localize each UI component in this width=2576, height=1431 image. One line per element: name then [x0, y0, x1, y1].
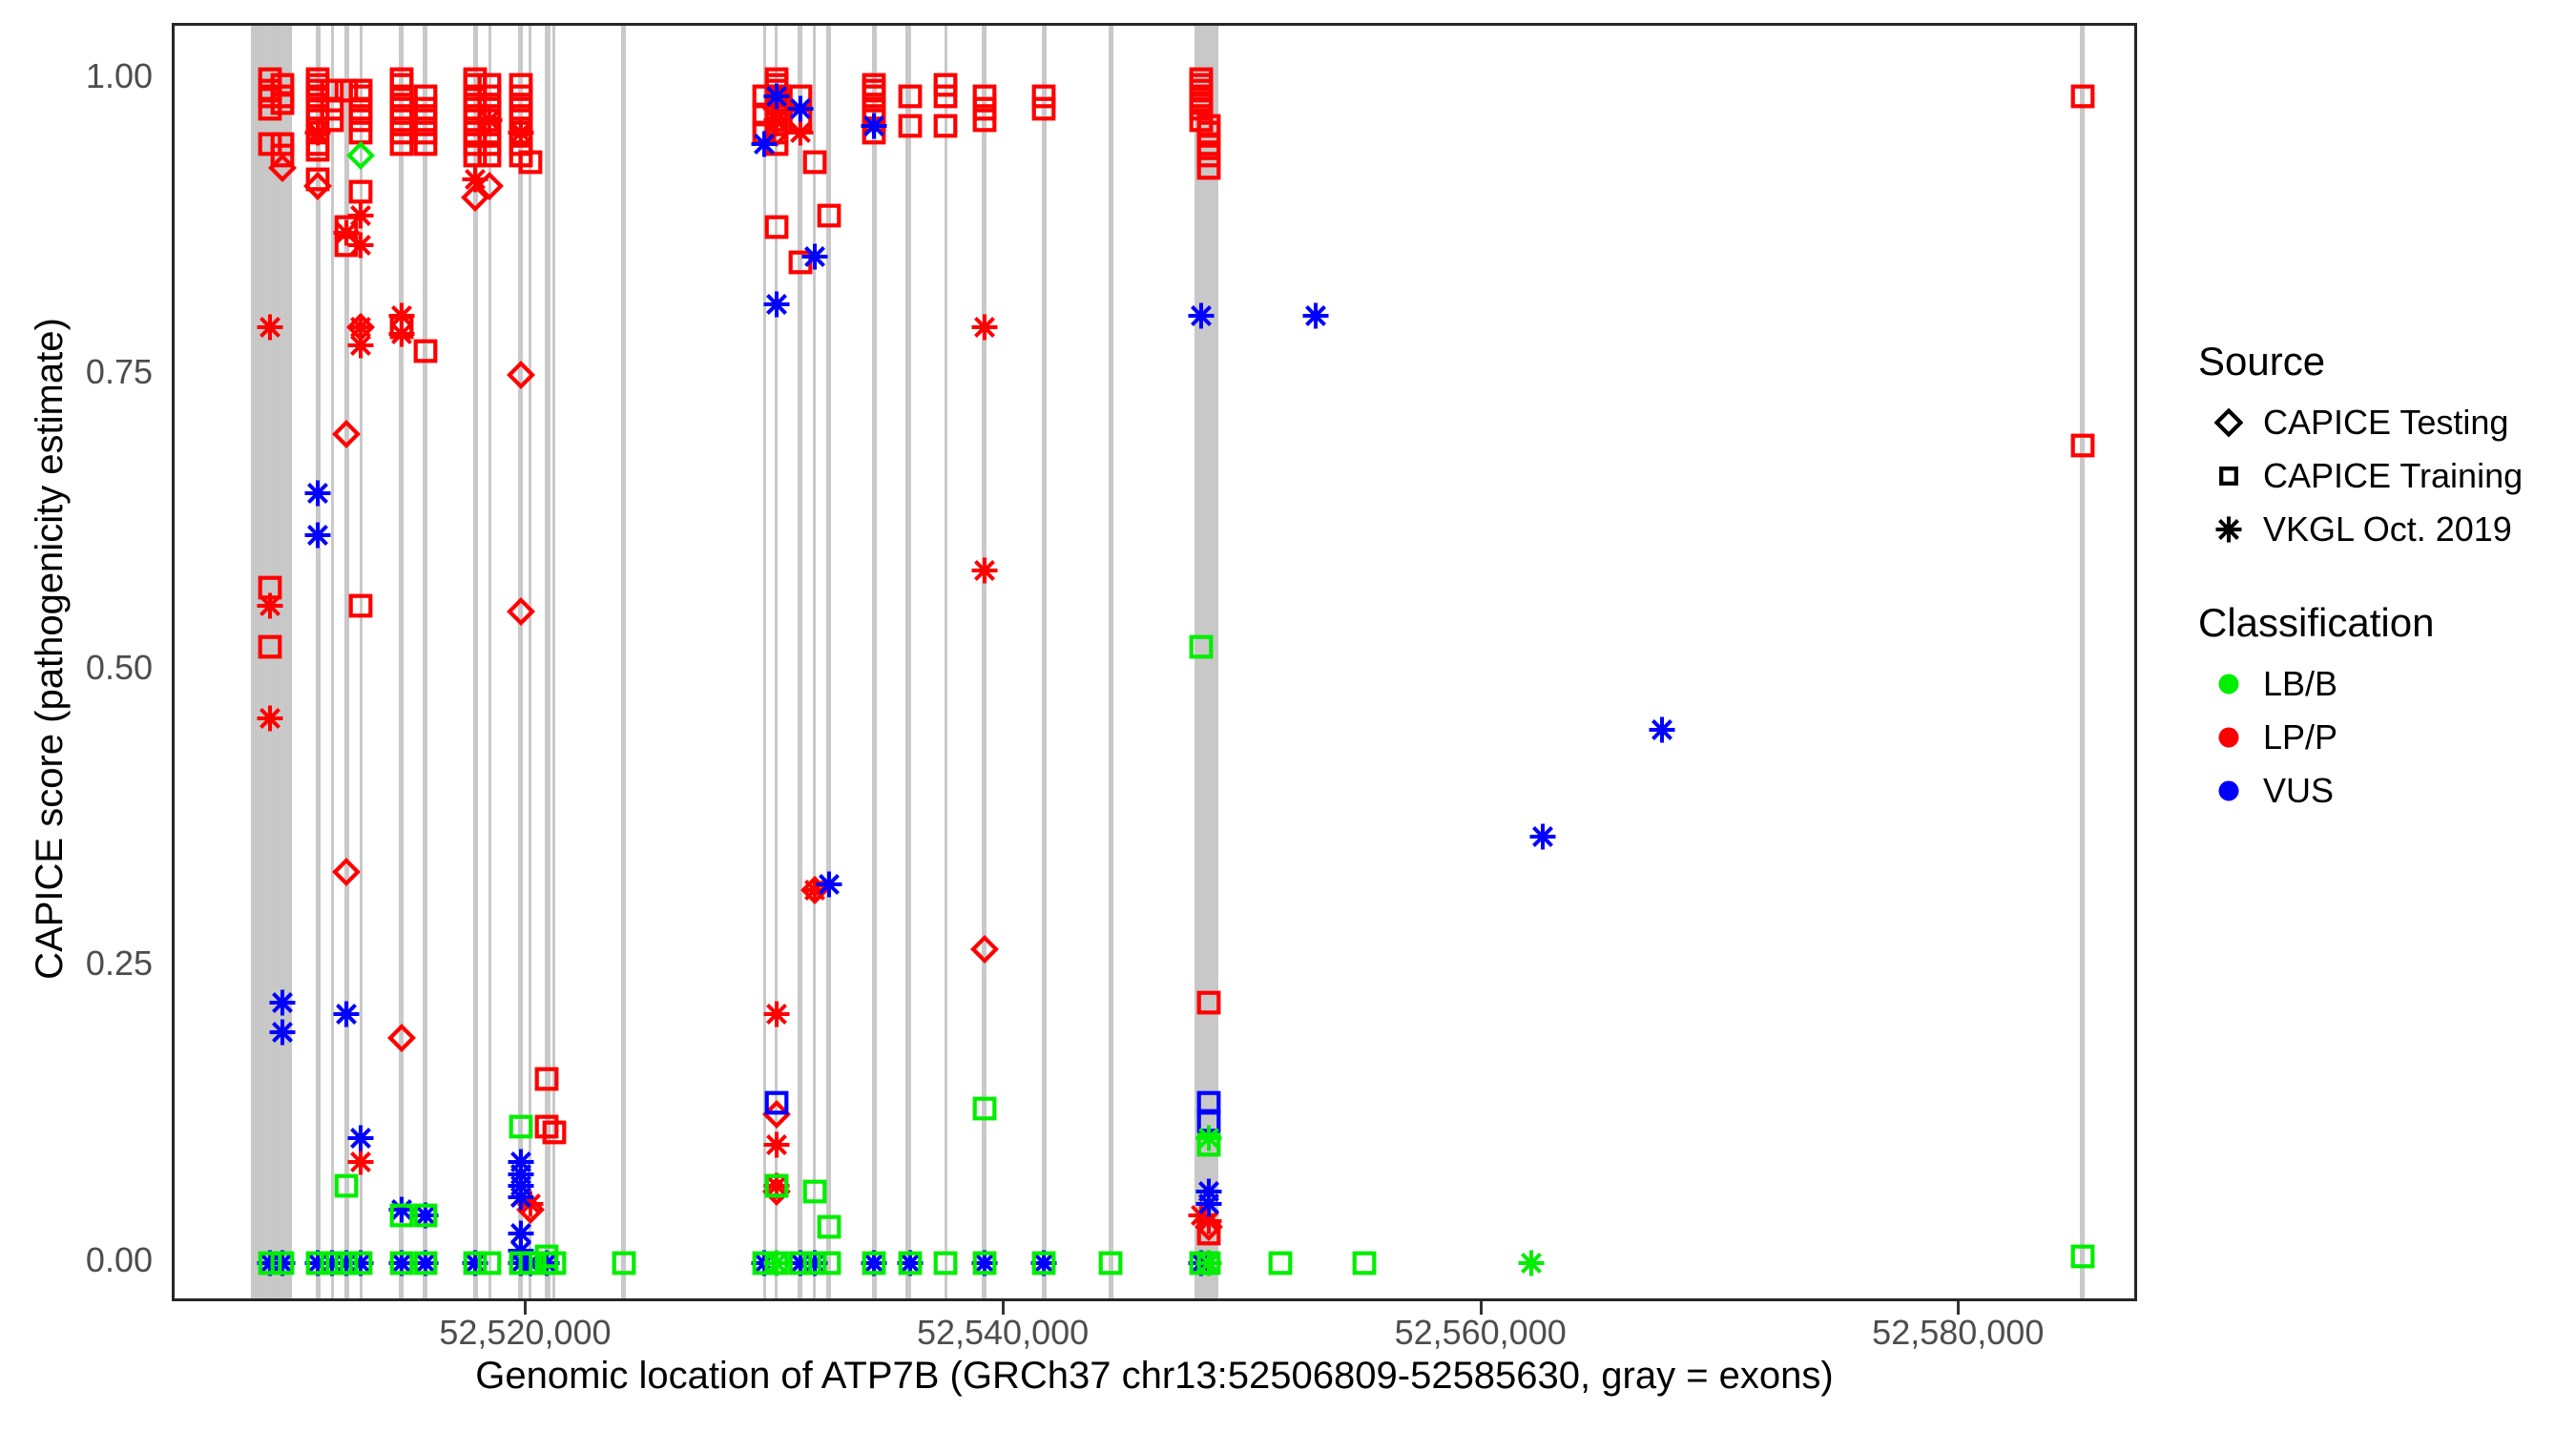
x-tick-mark — [1480, 1301, 1483, 1315]
legend-label: LB/B — [2263, 664, 2337, 704]
legend-label: CAPICE Testing — [2263, 403, 2508, 443]
x-axis-title: Genomic location of ATP7B (GRCh37 chr13:… — [172, 1355, 2137, 1398]
x-tick-label: 52,540,000 — [917, 1313, 1089, 1353]
legend-label: LP/P — [2263, 717, 2337, 757]
asterisk-marker-icon — [2194, 515, 2263, 544]
y-tick-label: 0.75 — [29, 352, 153, 392]
variant-guide-line — [945, 26, 947, 1298]
variant-guide-line — [799, 26, 801, 1298]
variant-guide-line — [908, 26, 911, 1298]
legend-label: VKGL Oct. 2019 — [2263, 509, 2512, 550]
variant-guide-line — [424, 26, 426, 1298]
legend-item-capice-testing[interactable]: CAPICE Testing — [2194, 396, 2576, 449]
circle-marker-icon — [2194, 778, 2263, 803]
square-marker-icon — [2194, 466, 2263, 487]
legend-item-vkgl-oct-2019[interactable]: VKGL Oct. 2019 — [2194, 503, 2576, 556]
variant-guide-line — [400, 26, 403, 1298]
variant-guide-line — [1207, 26, 1210, 1298]
data-point — [1517, 1249, 1546, 1277]
variant-guide-line — [2081, 26, 2084, 1298]
legend: SourceCAPICE TestingCAPICE TrainingVKGL … — [2194, 339, 2576, 818]
legend-title-source: Source — [2198, 339, 2576, 384]
variant-guide-line — [529, 26, 531, 1298]
variant-guide-line — [775, 26, 778, 1298]
circle-marker-icon — [2194, 672, 2263, 696]
variant-guide-line — [345, 26, 348, 1298]
variant-guide-line — [552, 26, 555, 1298]
y-axis-ticks: 0.000.250.500.751.00 — [29, 0, 153, 1431]
plot-area — [175, 26, 2134, 1298]
exon-band — [1195, 26, 1218, 1298]
x-tick-mark — [524, 1301, 527, 1315]
variant-guide-line — [317, 26, 320, 1298]
circle-marker-icon — [2194, 725, 2263, 750]
variant-guide-line — [474, 26, 477, 1298]
variant-guide-line — [983, 26, 986, 1298]
variant-guide-line — [519, 26, 522, 1298]
data-point — [1528, 822, 1557, 851]
variant-guide-line — [827, 26, 830, 1298]
variant-guide-line — [763, 26, 766, 1298]
variant-guide-line — [488, 26, 491, 1298]
x-tick-label: 52,580,000 — [1872, 1313, 2044, 1353]
variant-guide-line — [622, 26, 625, 1298]
x-tick-mark — [1957, 1301, 1960, 1315]
data-point — [1301, 301, 1330, 330]
plot-panel — [172, 23, 2137, 1301]
x-tick-label: 52,560,000 — [1395, 1313, 1567, 1353]
legend-label: CAPICE Training — [2263, 456, 2523, 496]
data-point — [1351, 1250, 1377, 1275]
variant-guide-line — [1200, 26, 1203, 1298]
y-tick-label: 0.50 — [29, 648, 153, 688]
x-tick-mark — [1002, 1301, 1005, 1315]
diamond-marker-icon — [2194, 408, 2263, 437]
variant-guide-line — [813, 26, 816, 1298]
y-tick-label: 0.00 — [29, 1240, 153, 1280]
variant-guide-line — [269, 26, 272, 1298]
legend-item-lb-b[interactable]: LB/B — [2194, 657, 2576, 711]
legend-item-lp-p[interactable]: LP/P — [2194, 711, 2576, 764]
variant-guide-line — [280, 26, 283, 1298]
data-point — [1648, 715, 1676, 744]
variant-guide-line — [1043, 26, 1046, 1298]
y-tick-label: 0.25 — [29, 944, 153, 984]
legend-item-vus[interactable]: VUS — [2194, 764, 2576, 818]
y-tick-label: 1.00 — [29, 56, 153, 96]
legend-title-classification: Classification — [2198, 600, 2576, 646]
data-point — [1267, 1250, 1293, 1275]
variant-guide-line — [1110, 26, 1112, 1298]
variant-guide-line — [360, 26, 363, 1298]
x-tick-label: 52,520,000 — [439, 1313, 611, 1353]
legend-item-capice-training[interactable]: CAPICE Training — [2194, 449, 2576, 503]
variant-guide-line — [331, 26, 334, 1298]
legend-group-spacer — [2194, 556, 2576, 600]
variant-guide-line — [873, 26, 876, 1298]
variant-guide-line — [546, 26, 549, 1298]
legend-label: VUS — [2263, 771, 2334, 811]
chart-root: CAPICE score (pathogenicity estimate) 0.… — [0, 0, 2576, 1431]
